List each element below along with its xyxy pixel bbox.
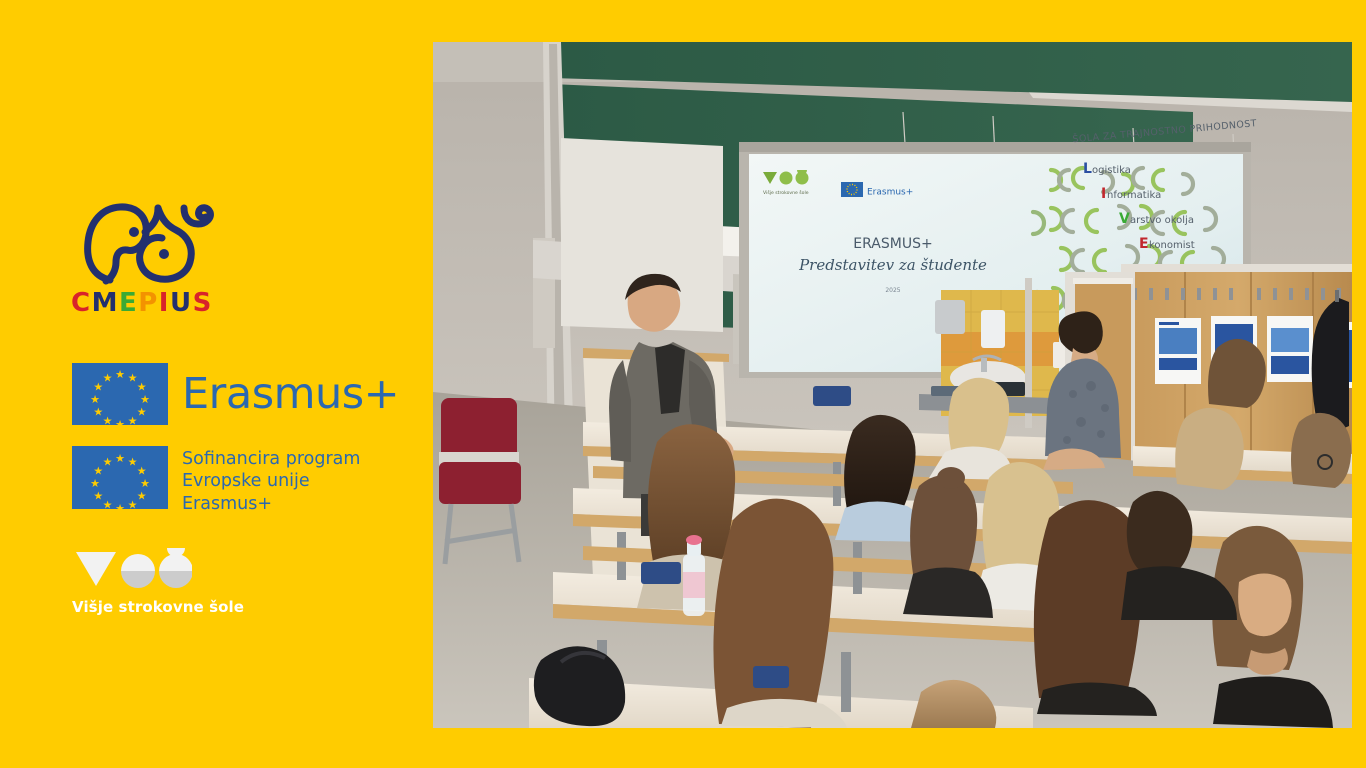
classroom-scene: Višje strokovne šole Erasmus+ [433, 42, 1352, 728]
slide-footnote: 2025 [885, 287, 900, 294]
cmepius-logo: CMEPIUS [72, 192, 242, 320]
svg-text:★: ★ [140, 393, 150, 406]
logo-column: CMEPIUS ★★★ ★★★ ★★★ ★★★ Erasmus+ ★★★ ★★★… [0, 0, 433, 768]
cmepius-letter-e: E [119, 290, 138, 316]
student-glasses [1291, 413, 1351, 488]
cmepius-letter-p: P [138, 290, 159, 316]
svg-text:★: ★ [90, 393, 100, 406]
svg-text:E: E [1139, 236, 1149, 252]
svg-text:★: ★ [115, 502, 125, 509]
visje-strokovne-sole-logo: Višje strokovne šole [72, 548, 252, 614]
svg-text:★: ★ [103, 499, 113, 509]
svg-text:konomist: konomist [1149, 240, 1195, 251]
cmepius-mark-icon [72, 192, 232, 288]
cmepius-letter-c: C [71, 290, 92, 316]
erasmus-plus-logo: ★★★ ★★★ ★★★ ★★★ Erasmus+ [72, 363, 372, 425]
svg-text:★: ★ [137, 465, 147, 478]
svg-text:★: ★ [140, 477, 150, 490]
svg-text:nformatika: nformatika [1107, 190, 1161, 201]
svg-text:Erasmus+: Erasmus+ [867, 188, 913, 198]
svg-text:★: ★ [115, 368, 125, 381]
vss-mark-icon [72, 548, 192, 592]
svg-text:★: ★ [93, 406, 103, 419]
slide-subtitle: Predstavitev za študente [798, 256, 987, 274]
svg-text:★: ★ [137, 490, 147, 503]
svg-text:★: ★ [115, 418, 125, 425]
svg-text:arstvo okolja: arstvo okolja [1130, 215, 1194, 226]
eu-flag-icon: ★★★ ★★★ ★★★ ★★★ [72, 446, 168, 509]
cmepius-wordmark: CMEPIUS [71, 290, 213, 316]
svg-text:★: ★ [103, 371, 113, 384]
slide-vss-logo: Višje strokovne šole [763, 170, 809, 196]
svg-text:★: ★ [115, 452, 125, 465]
co-funded-line-2: Evropske unije [182, 470, 360, 492]
slide-title: ERASMUS+ [853, 236, 932, 252]
cmepius-letter-i: I [159, 290, 170, 316]
erasmus-plus-wordmark: Erasmus+ [182, 373, 399, 416]
cmepius-letter-s: S [193, 290, 213, 316]
co-funded-line-3: Erasmus+ [182, 493, 360, 515]
classroom-presentation-photo: Višje strokovne šole Erasmus+ [433, 42, 1352, 728]
vss-wordmark: Višje strokovne šole [72, 598, 244, 616]
svg-text:★: ★ [137, 406, 147, 419]
cmepius-letter-m: M [92, 290, 119, 316]
svg-text:L: L [1083, 161, 1092, 177]
svg-text:Višje strokovne šole: Višje strokovne šole [763, 189, 809, 196]
svg-text:★: ★ [128, 499, 138, 509]
svg-text:★: ★ [137, 381, 147, 394]
svg-text:★: ★ [93, 490, 103, 503]
svg-text:★: ★ [103, 455, 113, 468]
co-funded-eu-logo: ★★★ ★★★ ★★★ ★★★ Sofinancira program Evro… [72, 446, 372, 512]
svg-text:I: I [1101, 186, 1106, 202]
svg-text:ogistika: ogistika [1092, 165, 1131, 176]
co-funded-line-1: Sofinancira program [182, 448, 360, 470]
svg-text:★: ★ [103, 415, 113, 425]
eu-flag-icon: ★★★ ★★★ ★★★ ★★★ [72, 363, 168, 425]
svg-text:★: ★ [90, 477, 100, 490]
svg-text:★: ★ [128, 415, 138, 425]
co-funded-text-block: Sofinancira program Evropske unije Erasm… [182, 446, 360, 515]
svg-text:V: V [1119, 211, 1130, 227]
cmepius-letter-u: U [170, 290, 193, 316]
